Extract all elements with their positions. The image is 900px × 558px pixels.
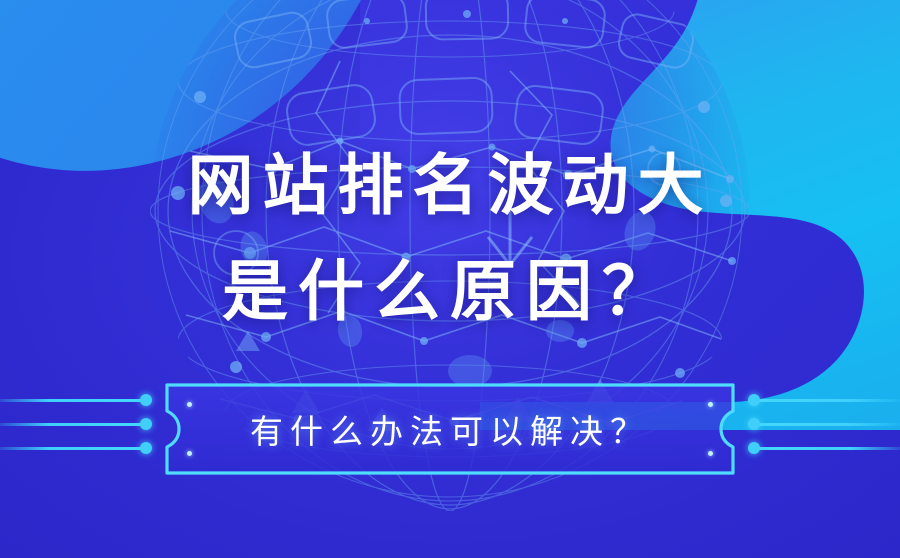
- rail-dot-right-2: [748, 418, 760, 430]
- rail-right-1: [754, 399, 900, 402]
- rail-right-2: [754, 423, 900, 426]
- headline-line-2: 是什么原因？: [0, 238, 900, 344]
- rail-dot-left-3: [140, 442, 152, 454]
- poster-canvas: 网站排名波动大 是什么原因？: [0, 0, 900, 558]
- rail-dot-right-3: [748, 442, 760, 454]
- rail-dot-left-2: [140, 418, 152, 430]
- rail-left-3: [0, 447, 146, 450]
- rail-dot-left-1: [140, 394, 152, 406]
- rail-dot-right-1: [748, 394, 760, 406]
- rail-left-1: [0, 399, 146, 402]
- headline-block: 网站排名波动大 是什么原因？: [0, 132, 900, 344]
- subtitle-panel: 有什么办法可以解决？: [165, 383, 735, 475]
- headline-line-1: 网站排名波动大: [0, 132, 900, 238]
- rail-left-2: [0, 423, 146, 426]
- rail-right-3: [754, 447, 900, 450]
- subtitle-text: 有什么办法可以解决？: [165, 383, 735, 475]
